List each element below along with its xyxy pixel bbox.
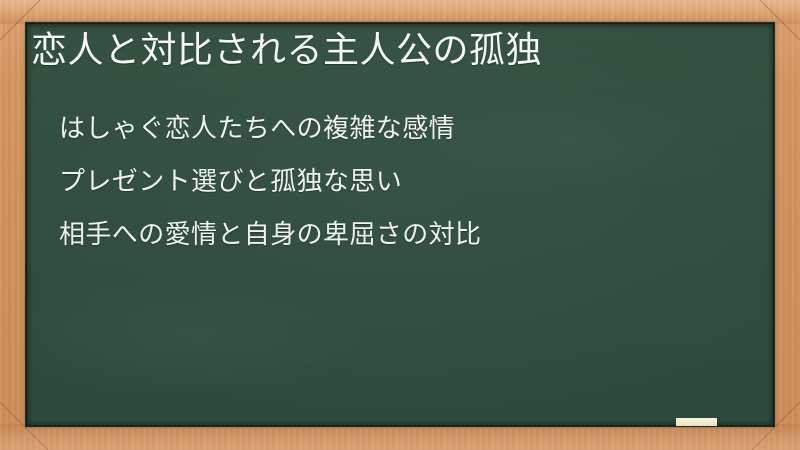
- bullet-item-3: 相手への愛情と自身の卑屈さの対比: [59, 209, 749, 262]
- chalkboard-content: 恋人と対比される主人公の孤独 はしゃぐ恋人たちへの複雑な感情 プレゼント選びと孤…: [26, 23, 774, 426]
- chalk-stick-icon: [676, 418, 717, 427]
- slide-bullet-list: はしゃぐ恋人たちへの複雑な感情 プレゼント選びと孤独な思い 相手への愛情と自身の…: [59, 103, 749, 262]
- bullet-item-2: プレゼント選びと孤独な思い: [59, 156, 749, 209]
- chalkboard-slide: 恋人と対比される主人公の孤独 はしゃぐ恋人たちへの複雑な感情 プレゼント選びと孤…: [0, 0, 800, 450]
- frame-bottom-highlight: [0, 424, 800, 450]
- chalkboard: 恋人と対比される主人公の孤独 はしゃぐ恋人たちへの複雑な感情 プレゼント選びと孤…: [25, 22, 775, 427]
- bullet-item-1: はしゃぐ恋人たちへの複雑な感情: [59, 103, 749, 156]
- slide-title: 恋人と対比される主人公の孤独: [31, 28, 751, 74]
- frame-top-highlight: [0, 0, 800, 24]
